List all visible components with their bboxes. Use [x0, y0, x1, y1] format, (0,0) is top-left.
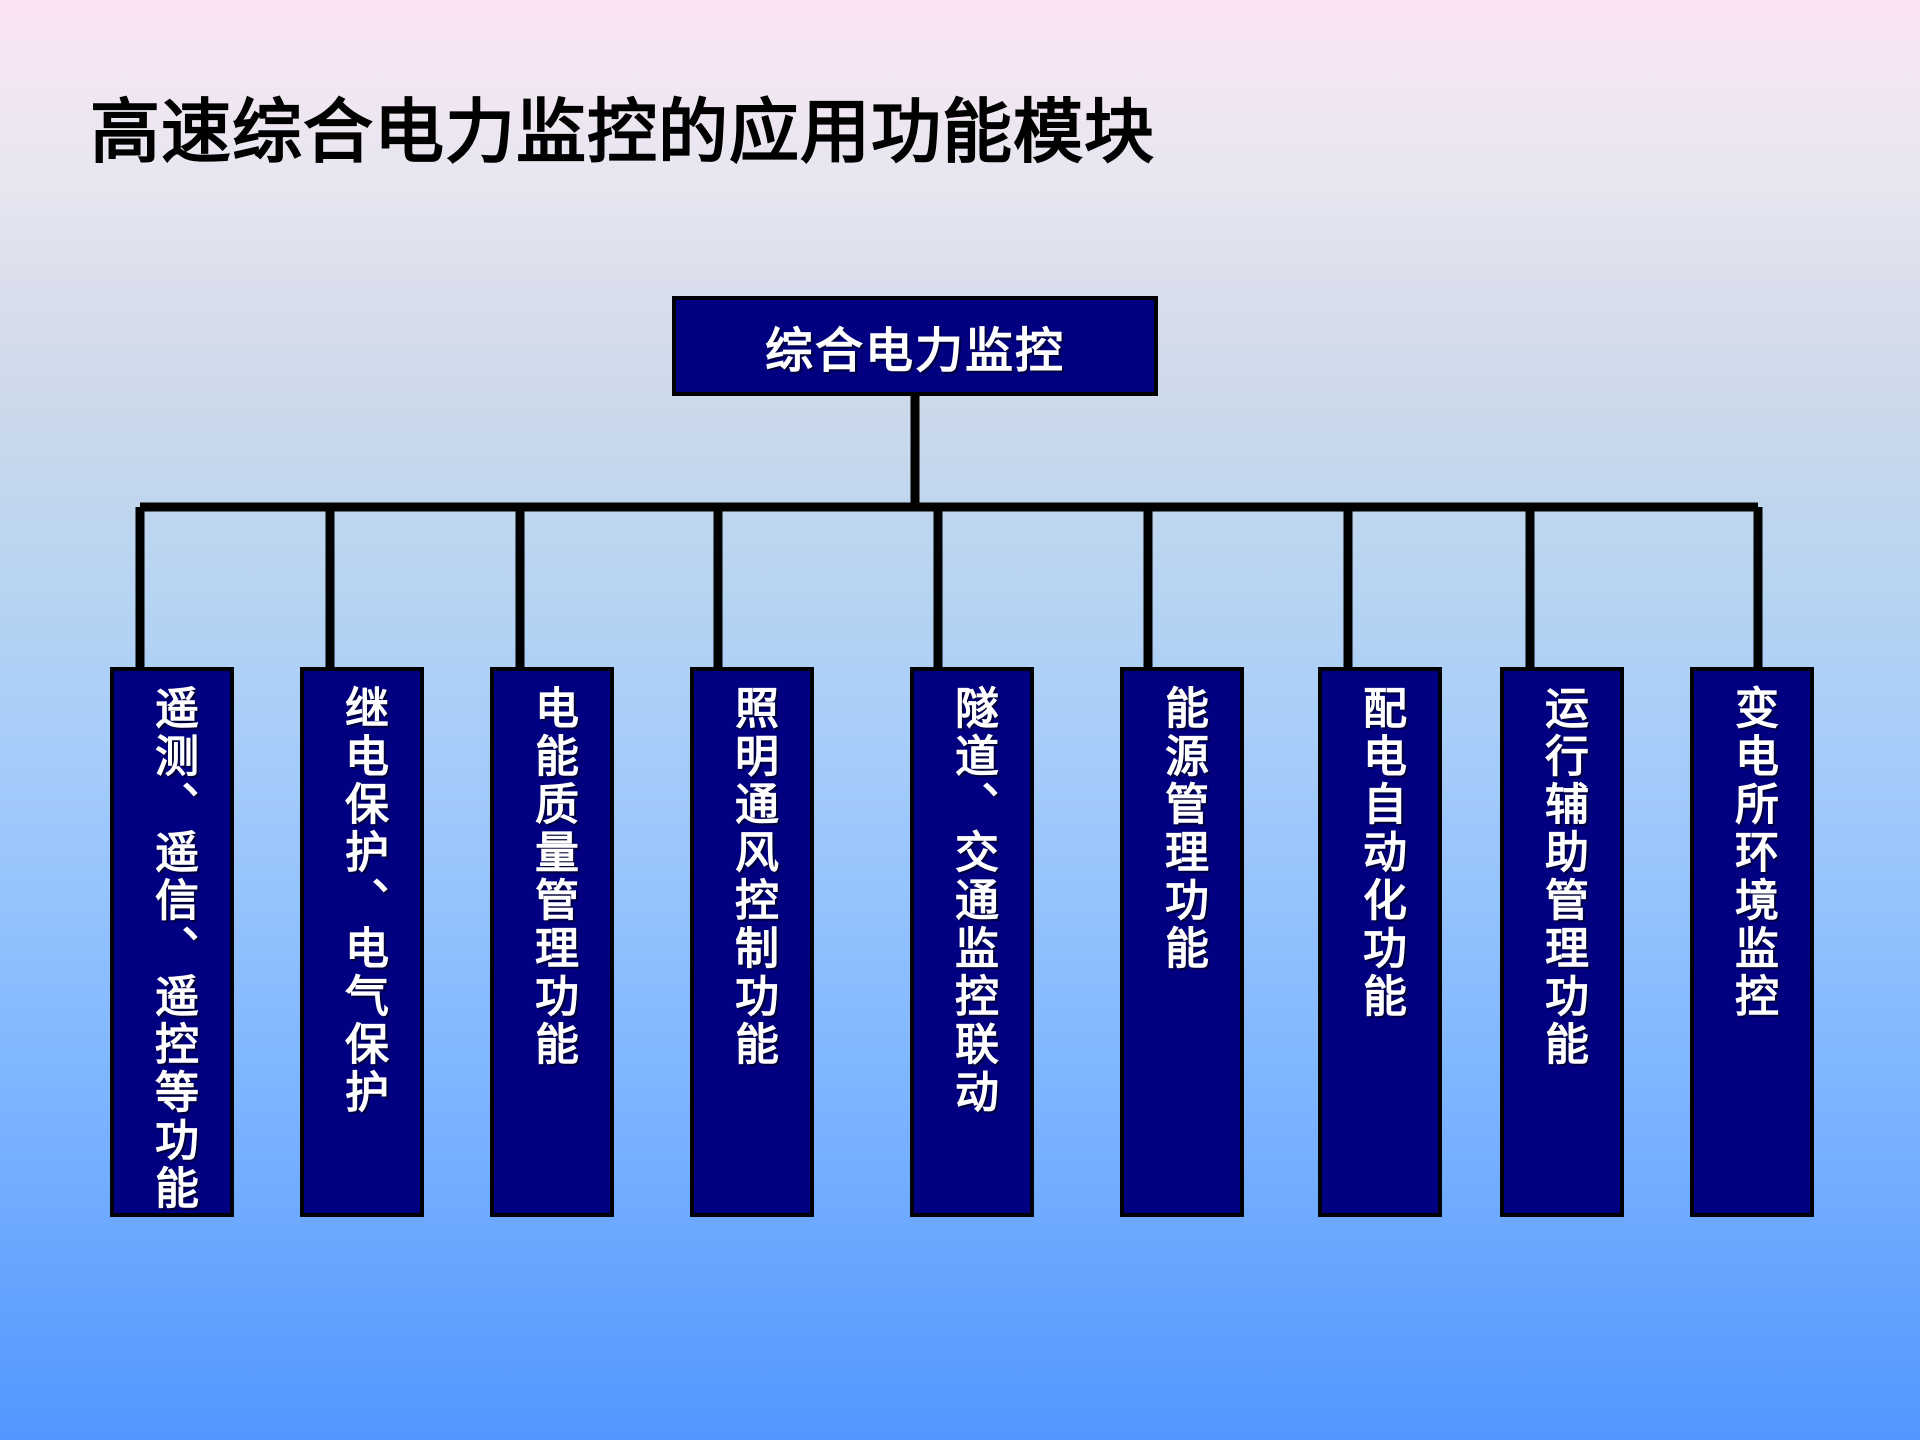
node-leaf-label: 照明通风控制功能: [726, 685, 778, 1069]
node-leaf-operation-assist[interactable]: 运行辅助管理功能: [1500, 667, 1624, 1217]
node-leaf-label: 运行辅助管理功能: [1536, 685, 1588, 1069]
node-leaf-power-quality[interactable]: 电能质量管理功能: [490, 667, 614, 1217]
node-root-comprehensive-power-monitoring[interactable]: 综合电力监控: [672, 296, 1158, 396]
slide-canvas: 高速综合电力监控的应用功能模块 综合电力监控 遥测、遥信、遥控等功能 继电保护、…: [0, 0, 1920, 1440]
node-leaf-energy-management[interactable]: 能源管理功能: [1120, 667, 1244, 1217]
node-leaf-distribution-automation[interactable]: 配电自动化功能: [1318, 667, 1442, 1217]
node-leaf-label: 继电保护、电气保护: [336, 685, 388, 1117]
page-title: 高速综合电力监控的应用功能模块: [90, 92, 1590, 173]
node-leaf-label: 能源管理功能: [1156, 685, 1208, 973]
node-leaf-lighting-ventilation[interactable]: 照明通风控制功能: [690, 667, 814, 1217]
node-root-label: 综合电力监控: [765, 311, 1065, 381]
node-leaf-label: 隧道、交通监控联动: [946, 685, 998, 1117]
node-leaf-substation-environment[interactable]: 变电所环境监控: [1690, 667, 1814, 1217]
node-leaf-relay-protection[interactable]: 继电保护、电气保护: [300, 667, 424, 1217]
node-leaf-label: 变电所环境监控: [1726, 685, 1778, 1021]
node-leaf-telemetry[interactable]: 遥测、遥信、遥控等功能: [110, 667, 234, 1217]
node-leaf-label: 电能质量管理功能: [526, 685, 578, 1069]
node-leaf-tunnel-traffic[interactable]: 隧道、交通监控联动: [910, 667, 1034, 1217]
node-leaf-label: 遥测、遥信、遥控等功能: [146, 685, 198, 1213]
node-leaf-label: 配电自动化功能: [1354, 685, 1406, 1021]
